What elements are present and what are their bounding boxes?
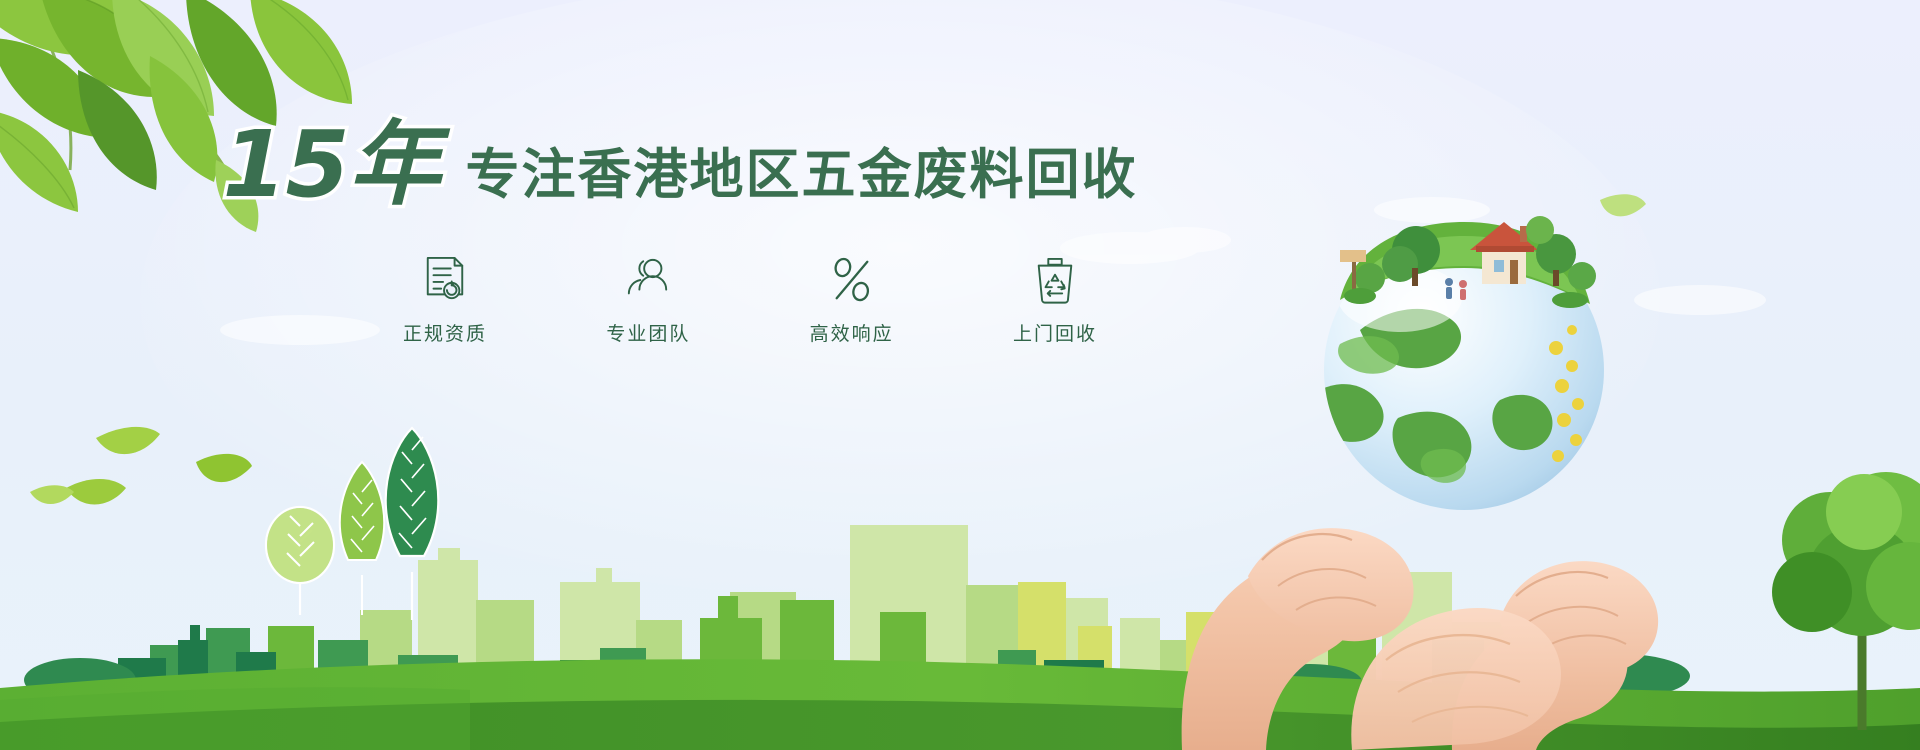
certificate-icon [422, 255, 468, 305]
feature-list: 正规资质 专业团队 高效响应 [370, 255, 1130, 346]
percent-icon [829, 255, 875, 305]
feature-label: 上门回收 [1013, 319, 1097, 346]
feature-label: 专业团队 [606, 319, 690, 346]
feature-item-response[interactable]: 高效响应 [777, 255, 927, 346]
feature-item-pickup[interactable]: 上门回收 [980, 255, 1130, 346]
feature-label: 高效响应 [810, 319, 894, 346]
team-icon [625, 255, 671, 305]
feature-item-qualification[interactable]: 正规资质 [370, 255, 520, 346]
feature-item-team[interactable]: 专业团队 [573, 255, 723, 346]
recycle-bin-icon [1032, 255, 1078, 305]
hands-holding-globe-illustration [0, 0, 1920, 750]
feature-label: 正规资质 [403, 319, 487, 346]
eco-recycling-banner: 15年 专注香港地区五金废料回收 正规资质 专业团队 [0, 0, 1920, 750]
